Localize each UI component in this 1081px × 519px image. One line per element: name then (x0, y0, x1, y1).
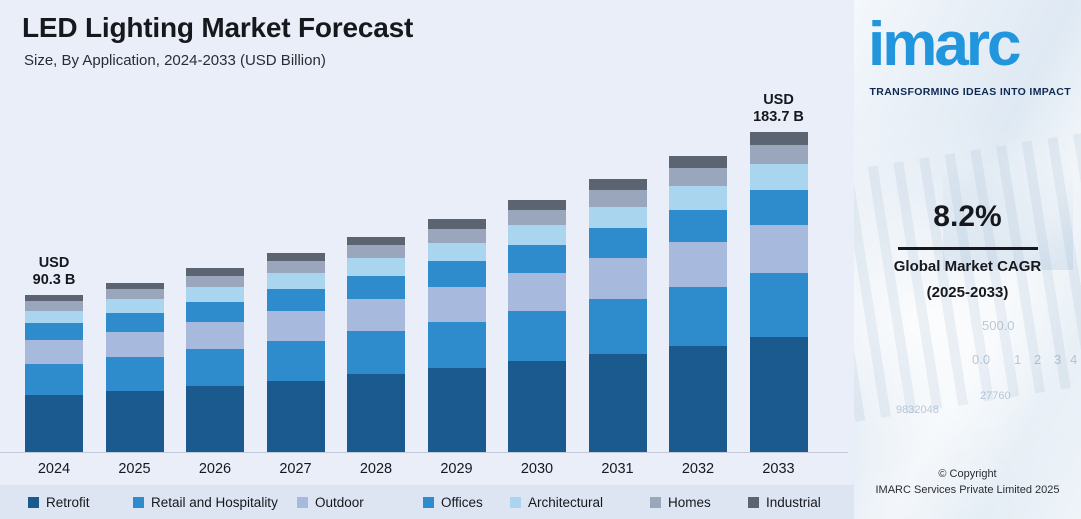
imarc-logo: imarc (868, 14, 1018, 76)
bar-column-2030[interactable] (508, 200, 566, 452)
legend-label: Retail and Hospitality (151, 495, 278, 510)
x-axis-label-2033: 2033 (739, 461, 819, 477)
bar-segment[interactable] (106, 299, 164, 313)
x-axis-line (0, 452, 848, 453)
legend-swatch-icon (133, 497, 144, 508)
bar-segment[interactable] (428, 219, 486, 228)
x-axis-label-2030: 2030 (497, 461, 577, 477)
legend-label: Industrial (766, 495, 821, 510)
bar-column-2031[interactable] (589, 179, 647, 452)
bar-segment[interactable] (106, 313, 164, 332)
background-number: 2 (1034, 352, 1041, 367)
bar-segment[interactable] (589, 299, 647, 354)
legend-label: Architectural (528, 495, 603, 510)
background-number: 4 (1070, 352, 1077, 367)
bar-segment[interactable] (186, 322, 244, 350)
legend-swatch-icon (510, 497, 521, 508)
bar-segment[interactable] (508, 311, 566, 362)
cagr-value: 8.2% (854, 200, 1081, 234)
cagr-label-line1: Global Market CAGR (854, 258, 1081, 275)
legend-item-architectural[interactable]: Architectural (510, 495, 603, 510)
bar-segment[interactable] (186, 276, 244, 287)
bar-segment[interactable] (428, 229, 486, 243)
annotation-line2: 90.3 B (0, 272, 114, 289)
bar-segment[interactable] (186, 302, 244, 322)
bar-segment[interactable] (750, 132, 808, 145)
bar-annotation-2033: USD183.7 B (719, 92, 839, 126)
bar-segment[interactable] (428, 243, 486, 262)
bar-segment[interactable] (508, 225, 566, 245)
chart-page: LED Lighting Market Forecast Size, By Ap… (0, 0, 1081, 519)
legend-item-retrofit[interactable]: Retrofit (28, 495, 90, 510)
bar-segment[interactable] (589, 354, 647, 452)
bar-segment[interactable] (267, 289, 325, 311)
x-axis-label-2029: 2029 (417, 461, 497, 477)
background-number: 27760 (980, 390, 1011, 402)
bar-segment[interactable] (106, 332, 164, 357)
bar-segment[interactable] (428, 287, 486, 322)
annotation-line2: 183.7 B (719, 109, 839, 126)
bar-segment[interactable] (186, 386, 244, 452)
page-title: LED Lighting Market Forecast (22, 12, 413, 44)
bar-segment[interactable] (25, 395, 83, 452)
background-number: 9832048 (896, 404, 939, 416)
legend-label: Outdoor (315, 495, 364, 510)
bar-segment[interactable] (25, 301, 83, 310)
bar-segment[interactable] (669, 287, 727, 346)
bar-segment[interactable] (669, 156, 727, 168)
bar-segment[interactable] (508, 273, 566, 311)
bar-column-2033[interactable] (750, 132, 808, 452)
legend-label: Homes (668, 495, 711, 510)
brand-panel: 500.0 0.0 1 2 3 4 9832048 27760 imarc TR… (854, 0, 1081, 519)
x-axis-labels: 2024202520262027202820292030203120322033 (0, 456, 854, 484)
legend-item-offices[interactable]: Offices (423, 495, 483, 510)
bar-segment[interactable] (347, 299, 405, 331)
bar-segment[interactable] (267, 273, 325, 289)
bar-segment[interactable] (347, 237, 405, 246)
annotation-line1: USD (719, 92, 839, 109)
legend-label: Offices (441, 495, 483, 510)
bar-segment[interactable] (106, 357, 164, 391)
imarc-tagline: TRANSFORMING IDEAS INTO IMPACT (870, 86, 1071, 98)
plot-area: USD90.3 BUSD183.7 B (0, 84, 854, 452)
bar-segment[interactable] (669, 186, 727, 210)
background-number: 500.0 (982, 318, 1015, 333)
bar-segment[interactable] (750, 273, 808, 337)
cagr-label-line2: (2025-2033) (854, 284, 1081, 301)
x-axis-label-2025: 2025 (95, 461, 175, 477)
bar-column-2026[interactable] (186, 268, 244, 452)
bar-segment[interactable] (589, 207, 647, 229)
bar-segment[interactable] (589, 228, 647, 258)
bar-segment[interactable] (267, 261, 325, 273)
page-subtitle: Size, By Application, 2024-2033 (USD Bil… (24, 52, 326, 69)
bar-segment[interactable] (589, 179, 647, 190)
legend-item-outdoor[interactable]: Outdoor (297, 495, 364, 510)
bar-segment[interactable] (267, 381, 325, 452)
bar-annotation-2024: USD90.3 B (0, 255, 114, 289)
bar-segment[interactable] (25, 311, 83, 324)
bar-column-2027[interactable] (267, 253, 325, 452)
bar-segment[interactable] (750, 145, 808, 164)
legend-swatch-icon (748, 497, 759, 508)
bar-segment[interactable] (508, 200, 566, 210)
copyright-line1: © Copyright (854, 468, 1081, 480)
bar-column-2025[interactable] (106, 283, 164, 452)
bar-column-2024[interactable] (25, 295, 83, 452)
bar-segment[interactable] (347, 258, 405, 275)
bar-segment[interactable] (106, 391, 164, 452)
cagr-divider (898, 247, 1038, 250)
bar-segment[interactable] (347, 276, 405, 300)
bar-segment[interactable] (428, 322, 486, 369)
bar-segment[interactable] (25, 340, 83, 364)
legend-label: Retrofit (46, 495, 90, 510)
background-number: 3 (1054, 352, 1061, 367)
x-axis-label-2027: 2027 (256, 461, 336, 477)
background-number: 0.0 (972, 352, 990, 367)
bar-segment[interactable] (25, 364, 83, 396)
bar-column-2029[interactable] (428, 219, 486, 452)
bar-segment[interactable] (186, 268, 244, 275)
copyright-line2: IMARC Services Private Limited 2025 (854, 484, 1081, 496)
bar-segment[interactable] (106, 283, 164, 290)
bar-segment[interactable] (25, 323, 83, 340)
x-axis-label-2026: 2026 (175, 461, 255, 477)
chart-legend: RetrofitRetail and HospitalityOutdoorOff… (0, 485, 854, 519)
bar-segment[interactable] (267, 311, 325, 341)
bar-column-2028[interactable] (347, 237, 405, 452)
bar-column-2032[interactable] (669, 156, 727, 452)
bar-segment[interactable] (428, 368, 486, 452)
bar-segment[interactable] (669, 242, 727, 286)
legend-swatch-icon (28, 497, 39, 508)
bar-segment[interactable] (267, 341, 325, 381)
x-axis-label-2031: 2031 (578, 461, 658, 477)
bar-segment[interactable] (347, 374, 405, 452)
bar-segment[interactable] (508, 361, 566, 452)
bar-segment[interactable] (669, 210, 727, 243)
bar-segment[interactable] (750, 337, 808, 452)
annotation-line1: USD (0, 255, 114, 272)
bar-segment[interactable] (750, 164, 808, 190)
bar-segment[interactable] (669, 168, 727, 186)
bar-segment[interactable] (750, 225, 808, 273)
legend-swatch-icon (650, 497, 661, 508)
legend-swatch-icon (423, 497, 434, 508)
bar-segment[interactable] (508, 245, 566, 273)
bar-segment[interactable] (589, 190, 647, 206)
bar-segment[interactable] (750, 190, 808, 225)
bar-segment[interactable] (347, 245, 405, 258)
x-axis-label-2032: 2032 (658, 461, 738, 477)
x-axis-label-2028: 2028 (336, 461, 416, 477)
bar-segment[interactable] (589, 258, 647, 299)
legend-item-homes[interactable]: Homes (650, 495, 711, 510)
bar-segment[interactable] (428, 261, 486, 287)
legend-item-industrial[interactable]: Industrial (748, 495, 821, 510)
bar-segment[interactable] (347, 331, 405, 374)
legend-swatch-icon (297, 497, 308, 508)
bar-segment[interactable] (186, 349, 244, 386)
x-axis-label-2024: 2024 (14, 461, 94, 477)
background-number: 1 (1014, 352, 1021, 367)
bar-segment[interactable] (106, 289, 164, 299)
chart-panel: LED Lighting Market Forecast Size, By Ap… (0, 0, 854, 519)
bar-segment[interactable] (669, 346, 727, 452)
bar-segment[interactable] (508, 210, 566, 225)
bar-segment[interactable] (267, 253, 325, 261)
legend-item-retail-and-hospitality[interactable]: Retail and Hospitality (133, 495, 278, 510)
bar-segment[interactable] (186, 287, 244, 302)
